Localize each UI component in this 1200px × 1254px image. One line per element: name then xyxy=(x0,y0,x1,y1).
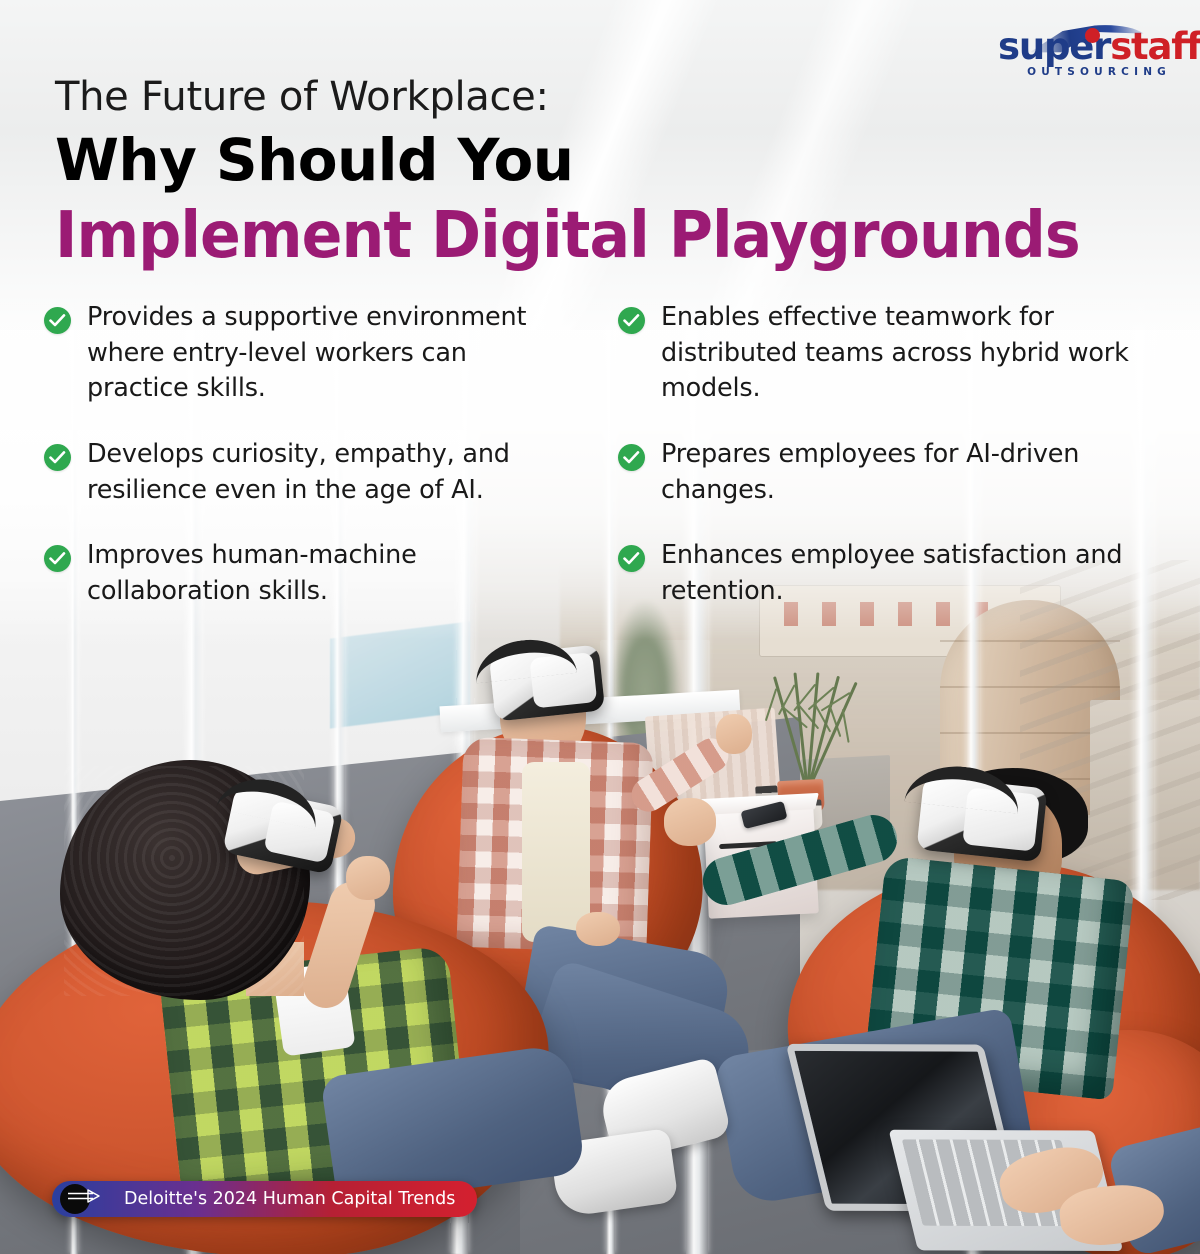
arrow-right-icon xyxy=(66,1188,106,1204)
check-circle-icon xyxy=(618,545,645,572)
logo-dot-icon xyxy=(1085,28,1100,43)
source-label: Deloitte's 2024 Human Capital Trends xyxy=(124,1189,455,1209)
headline-line-2: Why Should You xyxy=(55,130,573,191)
benefit-item: Prepares employees for AI-driven changes… xyxy=(618,437,1164,508)
superstaff-logo[interactable]: superstaff® OUTSOURCING xyxy=(998,28,1174,80)
check-circle-icon xyxy=(44,307,71,334)
benefit-item: Develops curiosity, empathy, and resilie… xyxy=(44,437,604,508)
benefit-text: Provides a supportive environment where … xyxy=(87,300,557,407)
check-circle-icon xyxy=(44,545,71,572)
check-circle-icon xyxy=(44,444,71,471)
benefit-item: Enhances employee satisfaction and reten… xyxy=(618,538,1164,609)
check-circle-icon xyxy=(618,444,645,471)
benefit-text: Enhances employee satisfaction and reten… xyxy=(661,538,1131,609)
benefit-item: Enables effective teamwork for distribut… xyxy=(618,300,1164,407)
benefits-column-right: Enables effective teamwork for distribut… xyxy=(604,300,1164,610)
benefit-text: Prepares employees for AI-driven changes… xyxy=(661,437,1131,508)
source-badge[interactable]: Deloitte's 2024 Human Capital Trends xyxy=(52,1181,477,1217)
check-circle-icon xyxy=(618,307,645,334)
benefits-list: Provides a supportive environment where … xyxy=(44,300,1164,610)
benefit-text: Develops curiosity, empathy, and resilie… xyxy=(87,437,557,508)
infographic-poster: superstaff® OUTSOURCING The Future of Wo… xyxy=(0,0,1200,1254)
headline-line-3: Implement Digital Playgrounds xyxy=(55,203,1080,270)
benefits-column-left: Provides a supportive environment where … xyxy=(44,300,604,610)
poster-content: superstaff® OUTSOURCING The Future of Wo… xyxy=(0,0,1200,1254)
benefit-text: Enables effective teamwork for distribut… xyxy=(661,300,1131,407)
headline-kicker: The Future of Workplace: xyxy=(55,74,549,120)
benefit-item: Provides a supportive environment where … xyxy=(44,300,604,407)
benefit-item: Improves human-machine collaboration ski… xyxy=(44,538,604,609)
benefit-text: Improves human-machine collaboration ski… xyxy=(87,538,557,609)
